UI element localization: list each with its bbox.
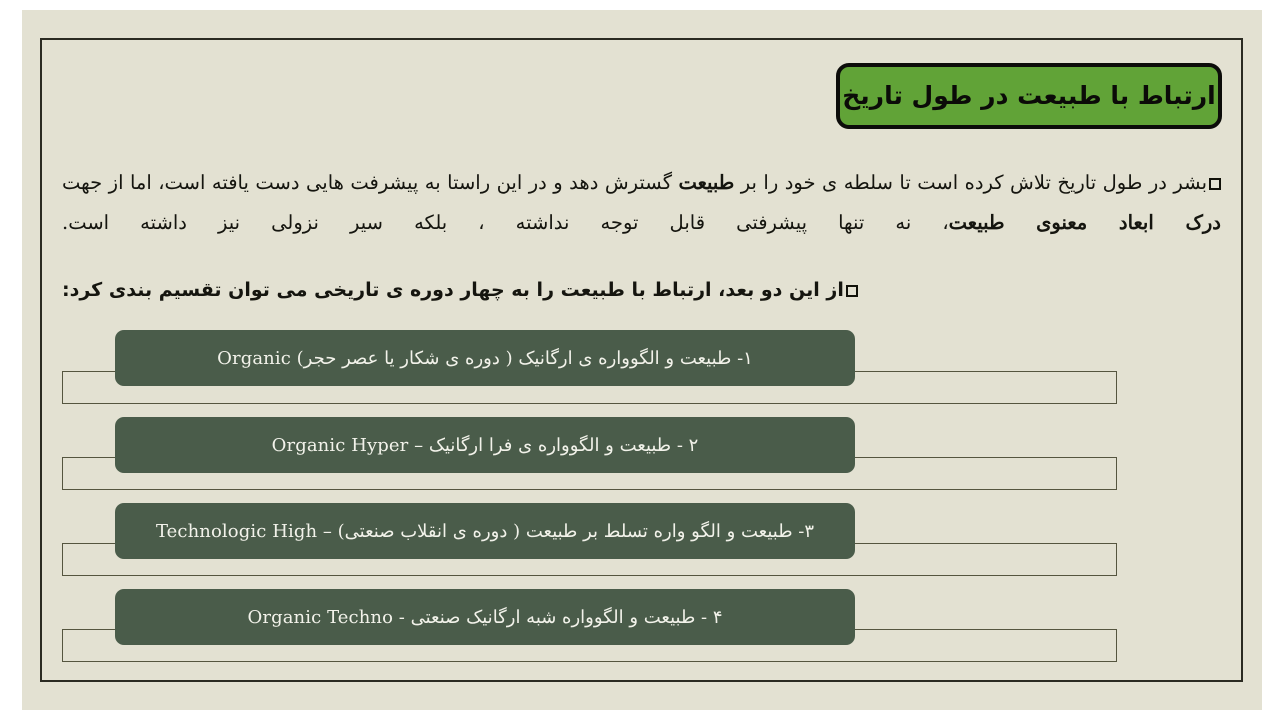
era-label-4: ۴ - طبیعت و الگوواره شبه ارگانیک صنعتی -…: [248, 607, 723, 628]
era-box-1[interactable]: ۱- طبیعت و الگوواره ی ارگانیک ( دوره ی ش…: [115, 330, 855, 386]
era-label-3: ۳- طبیعت و الگو واره تسلط بر طبیعت ( دور…: [156, 521, 814, 542]
slide-root: ارتباط با طبیعت در طول تاریخ بشر در طول …: [0, 0, 1280, 720]
era-label-2: ۲ - طبیعت و الگوواره ی فرا ارگانیک – Org…: [272, 435, 699, 456]
era-list: ۱- طبیعت و الگوواره ی ارگانیک ( دوره ی ش…: [0, 0, 1280, 720]
era-label-1: ۱- طبیعت و الگوواره ی ارگانیک ( دوره ی ش…: [217, 348, 753, 369]
era-box-2[interactable]: ۲ - طبیعت و الگوواره ی فرا ارگانیک – Org…: [115, 417, 855, 473]
era-box-3[interactable]: ۳- طبیعت و الگو واره تسلط بر طبیعت ( دور…: [115, 503, 855, 559]
era-box-4[interactable]: ۴ - طبیعت و الگوواره شبه ارگانیک صنعتی -…: [115, 589, 855, 645]
